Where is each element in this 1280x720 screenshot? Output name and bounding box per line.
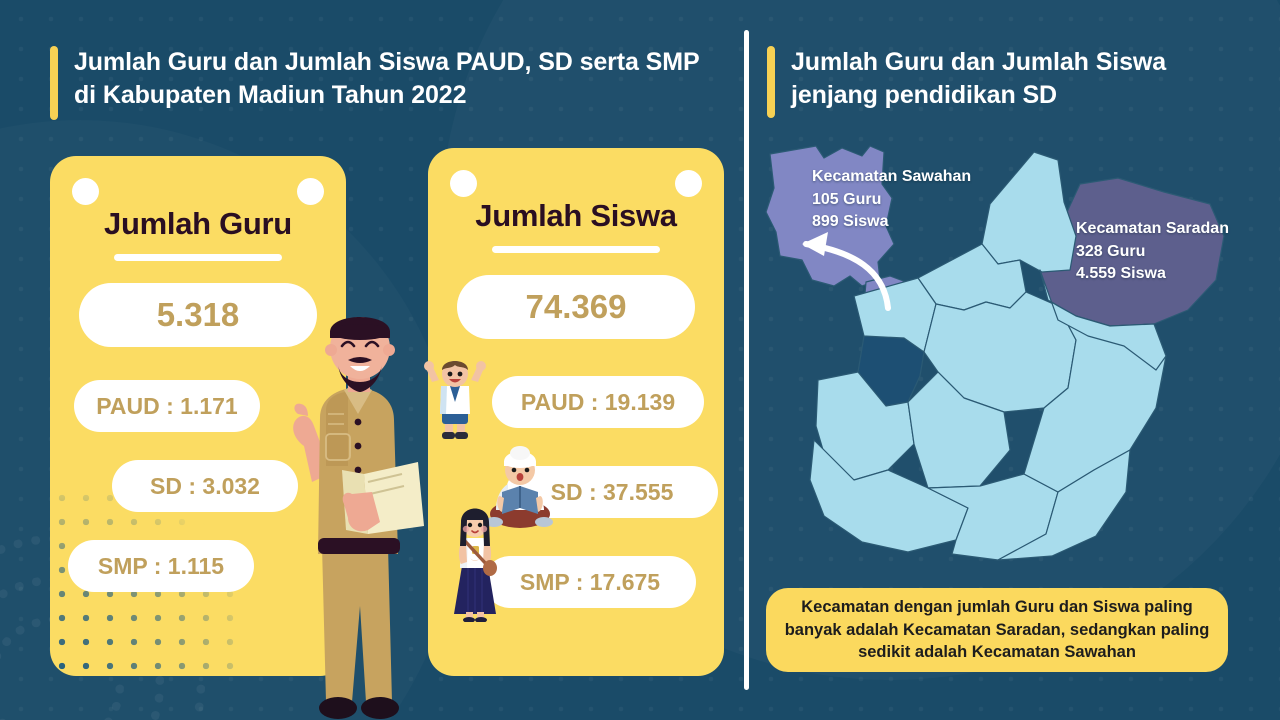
map-note-saradan-students: 4.559 Siswa (1076, 263, 1229, 286)
map-note-sawahan-teachers: 105 Guru (812, 189, 971, 212)
map-note-sawahan-students: 899 Siswa (812, 211, 971, 234)
stat-item-siswa-paud: PAUD : 19.139 (492, 376, 704, 428)
map-caption-text: Kecamatan dengan jumlah Guru dan Siswa p… (776, 596, 1218, 663)
left-header-title: Jumlah Guru dan Jumlah Siswa PAUD, SD se… (74, 46, 710, 112)
student-smp-illustration (444, 500, 506, 622)
map-note-sawahan-district: Kecamatan Sawahan (812, 166, 971, 189)
student-paud-illustration (424, 356, 486, 448)
stat-card-guru-title: Jumlah Guru (50, 156, 346, 242)
right-header-accent-bar (767, 46, 775, 118)
map-caption-box: Kecamatan dengan jumlah Guru dan Siswa p… (766, 588, 1228, 672)
teacher-illustration (268, 306, 448, 720)
map-region-body-north (982, 152, 1076, 272)
map-note-saradan-teachers: 328 Guru (1076, 241, 1229, 264)
stat-item-siswa-smp: SMP : 17.675 (484, 556, 696, 608)
map-note-saradan-district: Kecamatan Saradan (1076, 218, 1229, 241)
left-header-accent-bar (50, 46, 58, 120)
card-title-underline (492, 246, 660, 253)
madiun-district-map: Kecamatan Sawahan 105 Guru 899 Siswa Kec… (758, 140, 1236, 570)
infographic-canvas: Jumlah Guru dan Jumlah Siswa PAUD, SD se… (0, 0, 1280, 720)
map-note-sawahan: Kecamatan Sawahan 105 Guru 899 Siswa (812, 166, 971, 234)
card-title-underline (114, 254, 282, 261)
stat-card-siswa-title: Jumlah Siswa (428, 148, 724, 234)
panel-divider (744, 30, 749, 690)
right-panel-header: Jumlah Guru dan Jumlah Siswa jenjang pen… (767, 46, 1237, 118)
map-note-saradan: Kecamatan Saradan 328 Guru 4.559 Siswa (1076, 218, 1229, 286)
stat-item-guru-paud: PAUD : 1.171 (74, 380, 260, 432)
stat-item-guru-smp: SMP : 1.115 (68, 540, 254, 592)
right-header-title: Jumlah Guru dan Jumlah Siswa jenjang pen… (791, 46, 1237, 112)
stat-card-siswa-total: 74.369 (457, 275, 695, 339)
left-panel-header: Jumlah Guru dan Jumlah Siswa PAUD, SD se… (50, 46, 710, 120)
